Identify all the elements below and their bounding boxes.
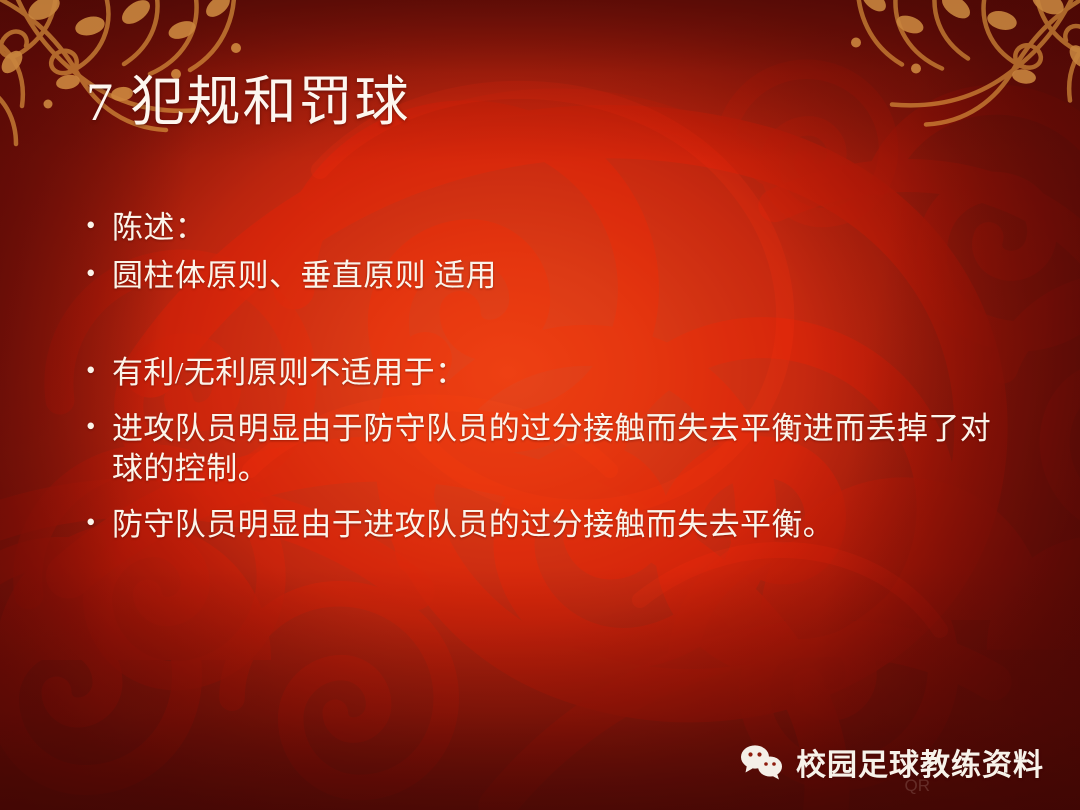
bullet-text: 防守队员明显由于进攻队员的过分接触而失去平衡。 — [112, 505, 1006, 545]
bullet-text: 有利/无利原则不适用于： — [112, 353, 1006, 393]
bullet-gap — [86, 489, 1006, 505]
bullet-gap — [86, 393, 1006, 409]
bullet-marker-icon: • — [86, 256, 112, 291]
bullet-item: • 防守队员明显由于进攻队员的过分接触而失去平衡。 — [86, 505, 1006, 545]
bullet-marker-icon: • — [86, 353, 112, 388]
bullet-text: 圆柱体原则、垂直原则 适用 — [112, 256, 1006, 296]
floral-ornament-top-right-icon — [776, 0, 1080, 175]
bullet-item: • 进攻队员明显由于防守队员的过分接触而失去平衡进而丢掉了对球的控制。 — [86, 409, 1006, 490]
bullet-item: • 有利/无利原则不适用于： — [86, 353, 1006, 393]
bullet-text: 陈述： — [112, 208, 1006, 248]
watermark-label: 校园足球教练资料 — [796, 740, 1044, 784]
slide-title: 7 犯规和罚球 — [86, 72, 411, 132]
bullet-group-separator — [86, 297, 1006, 353]
bullet-marker-icon: • — [86, 208, 112, 243]
bullet-text: 进攻队员明显由于防守队员的过分接触而失去平衡进而丢掉了对球的控制。 — [112, 409, 1006, 490]
bullet-marker-icon: • — [86, 409, 112, 444]
watermark: 校园足球教练资料 — [740, 740, 1044, 784]
bullet-item: • 圆柱体原则、垂直原则 适用 — [86, 256, 1006, 296]
bullet-gap — [86, 248, 1006, 256]
slide-body: • 陈述： • 圆柱体原则、垂直原则 适用 • 有利/无利原则不适用于： • 进… — [86, 208, 1006, 546]
wechat-icon — [740, 743, 784, 781]
presentation-slide: 7 犯规和罚球 • 陈述： • 圆柱体原则、垂直原则 适用 • 有利/无利原则不… — [0, 0, 1080, 810]
bullet-marker-icon: • — [86, 505, 112, 540]
bullet-item: • 陈述： — [86, 208, 1006, 248]
